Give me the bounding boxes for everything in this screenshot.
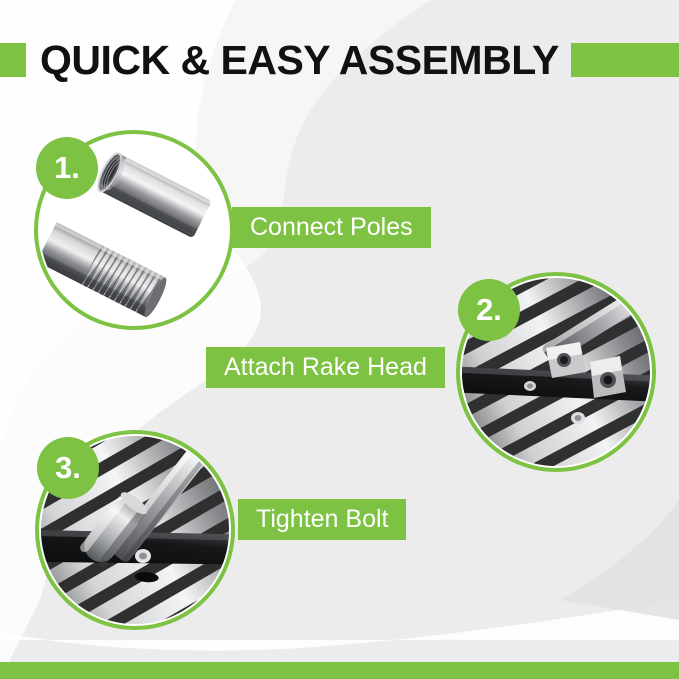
- step-2-number-badge: 2.: [458, 279, 520, 341]
- assembly-infographic: QUICK & EASY ASSEMBLY: [0, 0, 679, 679]
- step-1-number: 1.: [54, 150, 80, 186]
- step-3-number: 3.: [55, 450, 81, 486]
- step-1-number-badge: 1.: [36, 137, 98, 199]
- green-accent-bar-right: [571, 43, 679, 77]
- step-1-label: Connect Poles: [232, 207, 431, 248]
- step-2-number: 2.: [476, 292, 502, 328]
- green-accent-bar-left: [0, 43, 26, 77]
- step-2-label: Attach Rake Head: [206, 347, 445, 388]
- step-1-label-text: Connect Poles: [250, 213, 413, 242]
- step-3-number-badge: 3.: [37, 437, 99, 499]
- header: QUICK & EASY ASSEMBLY: [0, 32, 679, 88]
- green-footer-bar: [0, 662, 679, 679]
- page-title: QUICK & EASY ASSEMBLY: [40, 40, 559, 81]
- step-3-label-text: Tighten Bolt: [256, 505, 388, 534]
- step-2-label-text: Attach Rake Head: [224, 353, 427, 382]
- step-3-label: Tighten Bolt: [238, 499, 406, 540]
